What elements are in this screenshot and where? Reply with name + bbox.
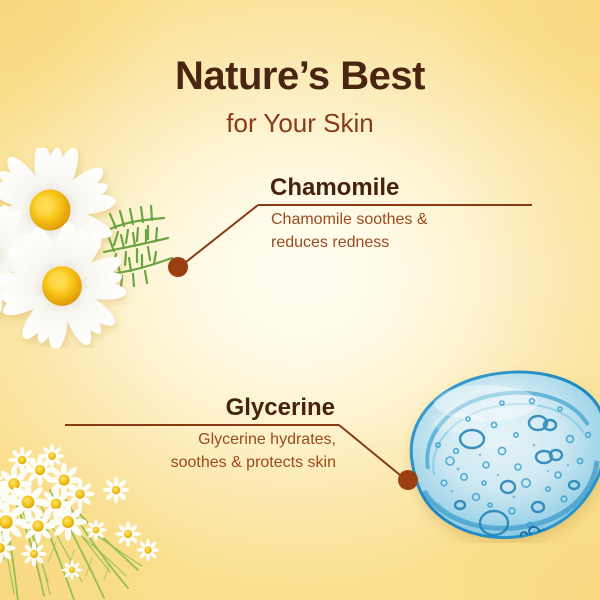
ingredient-divider-glycerine — [65, 424, 339, 426]
promo-infographic: Nature’s Best for Your Skin Chamomile Ch… — [0, 0, 600, 600]
ingredient-divider-chamomile — [258, 204, 532, 206]
ingredient-description-glycerine: Glycerine hydrates, soothes & protects s… — [0, 429, 336, 474]
blue-gel-blob-image — [398, 365, 600, 543]
ingredient-description-chamomile: Chamomile soothes & reduces redness — [271, 209, 428, 254]
ingredient-heading-chamomile: Chamomile — [270, 176, 399, 200]
chamomile-flowers-image — [0, 148, 188, 348]
page-subtitle: for Your Skin — [0, 108, 600, 139]
ingredient-heading-glycerine: Glycerine — [0, 396, 335, 420]
page-title: Nature’s Best — [0, 56, 600, 96]
